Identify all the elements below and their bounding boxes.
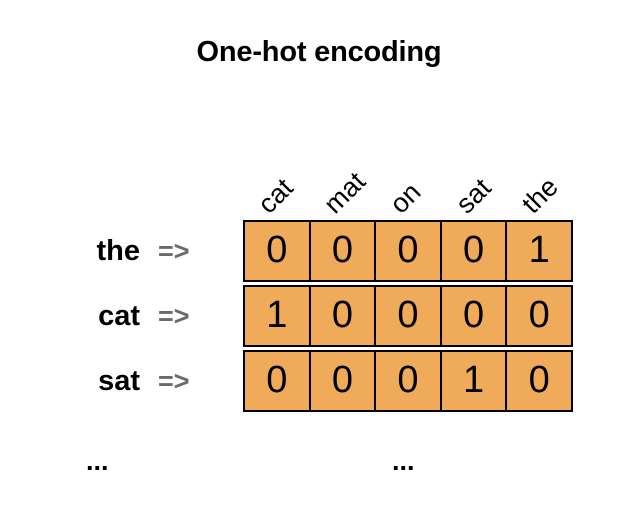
vector-cell-value: 1 xyxy=(266,296,287,334)
vector-cell: 0 xyxy=(311,352,377,410)
vector-cell-value: 0 xyxy=(529,361,550,399)
vector-cell-value: 0 xyxy=(266,231,287,269)
row-word-label: cat xyxy=(0,285,140,347)
vector-cell: 0 xyxy=(245,352,311,410)
column-header-label: cat xyxy=(252,173,299,220)
column-header-the: the xyxy=(507,120,573,220)
table-row: the => 0 0 0 0 1 xyxy=(0,220,638,282)
vector-cell: 0 xyxy=(507,287,571,345)
vector-cell: 1 xyxy=(245,287,311,345)
page-title: One-hot encoding xyxy=(0,36,638,69)
vector-cell-value: 0 xyxy=(529,296,550,334)
vector-cell: 1 xyxy=(507,222,571,280)
ellipsis-rows-continue: ... xyxy=(86,448,109,475)
vector-cell: 0 xyxy=(376,222,442,280)
row-word-label: the xyxy=(0,220,140,282)
vector-cell-value: 0 xyxy=(332,296,353,334)
vector-cell: 0 xyxy=(376,287,442,345)
table-row: cat => 1 0 0 0 0 xyxy=(0,285,638,347)
column-header-mat: mat xyxy=(309,120,375,220)
vector-cell: 0 xyxy=(442,222,508,280)
vector-cell-value: 0 xyxy=(397,361,418,399)
column-header-label: sat xyxy=(450,173,497,220)
row-word-label: sat xyxy=(0,350,140,412)
column-header-sat: sat xyxy=(441,120,507,220)
vector-cell: 0 xyxy=(245,222,311,280)
vector-cell-value: 1 xyxy=(463,361,484,399)
vector-cell-value: 0 xyxy=(332,231,353,269)
vector-cell-value: 0 xyxy=(463,296,484,334)
vector-cell: 0 xyxy=(507,352,571,410)
row-vector: 0 0 0 1 0 xyxy=(243,350,573,412)
row-arrow-icon: => xyxy=(158,285,190,347)
row-arrow-icon: => xyxy=(158,220,190,282)
ellipsis-vectors-continue: ... xyxy=(392,448,415,475)
column-header-cat: cat xyxy=(243,120,309,220)
vector-cell-value: 1 xyxy=(529,231,550,269)
vector-cell: 0 xyxy=(311,222,377,280)
column-header-label: mat xyxy=(318,166,372,220)
table-row: sat => 0 0 0 1 0 xyxy=(0,350,638,412)
column-header-label: on xyxy=(384,177,427,220)
vector-cell: 1 xyxy=(442,352,508,410)
encoding-rows: the => 0 0 0 0 1 cat => 1 0 0 0 0 sa xyxy=(0,220,638,415)
column-header-on: on xyxy=(375,120,441,220)
vector-cell: 0 xyxy=(311,287,377,345)
row-arrow-icon: => xyxy=(158,350,190,412)
vector-cell-value: 0 xyxy=(397,231,418,269)
column-header-label: the xyxy=(516,172,564,220)
row-vector: 1 0 0 0 0 xyxy=(243,285,573,347)
vector-cell-value: 0 xyxy=(332,361,353,399)
one-hot-encoding-figure: One-hot encoding cat mat on sat the the … xyxy=(0,0,638,522)
vector-cell-value: 0 xyxy=(266,361,287,399)
column-header-row: cat mat on sat the xyxy=(243,120,573,220)
vector-cell-value: 0 xyxy=(463,231,484,269)
row-vector: 0 0 0 0 1 xyxy=(243,220,573,282)
vector-cell: 0 xyxy=(442,287,508,345)
vector-cell-value: 0 xyxy=(397,296,418,334)
vector-cell: 0 xyxy=(376,352,442,410)
